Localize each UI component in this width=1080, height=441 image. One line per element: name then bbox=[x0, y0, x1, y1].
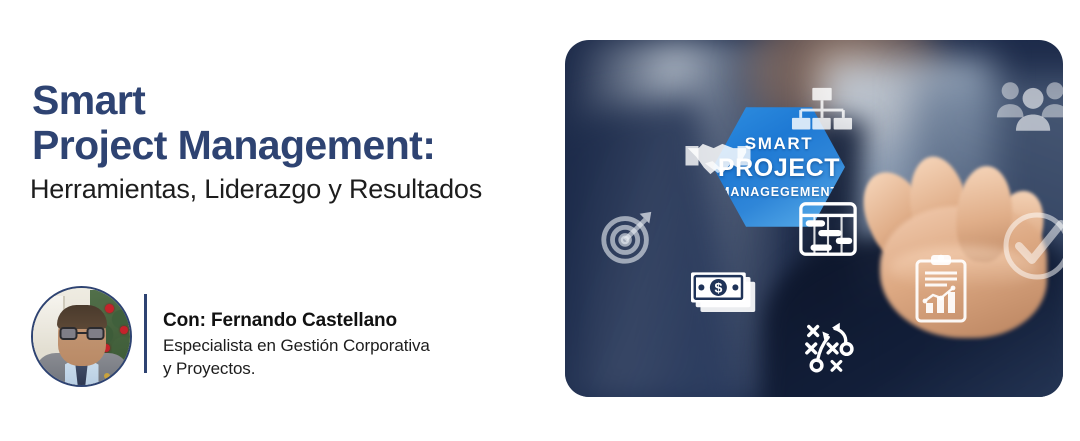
ornament-icon bbox=[105, 304, 114, 313]
lapel-pin-icon bbox=[104, 373, 110, 379]
glasses-icon bbox=[59, 327, 104, 340]
presenter-text: Con: Fernando Castellano Especialista en… bbox=[163, 286, 430, 380]
webinar-banner: Smart Project Management: Herramientas, … bbox=[0, 0, 1080, 441]
presenter-role: Especialista en Gestión Corporativa y Pr… bbox=[163, 334, 430, 380]
hero-photo: SMART PROJECT MANAGEGEMENT bbox=[565, 40, 1063, 397]
ornament-icon bbox=[120, 326, 128, 334]
avatar bbox=[31, 286, 132, 387]
presenter-divider bbox=[144, 294, 147, 373]
check-circle-icon bbox=[999, 208, 1063, 284]
presenter-name: Con: Fernando Castellano bbox=[163, 309, 430, 333]
left-text-column: Smart Project Management: Herramientas, … bbox=[0, 0, 560, 441]
money-icon: $ bbox=[691, 270, 759, 320]
presenter-block: Con: Fernando Castellano Especialista en… bbox=[31, 286, 430, 387]
org-chart-icon bbox=[791, 84, 853, 142]
avatar-hair bbox=[57, 305, 107, 329]
gantt-chart-icon bbox=[797, 198, 859, 260]
page-title: Smart Project Management: bbox=[32, 78, 552, 168]
target-icon bbox=[597, 206, 659, 268]
clipboard-report-icon bbox=[913, 254, 969, 324]
strategy-icon bbox=[803, 318, 865, 376]
team-icon bbox=[995, 76, 1063, 136]
svg-text:$: $ bbox=[714, 281, 722, 297]
handshake-icon bbox=[683, 128, 753, 190]
page-subtitle: Herramientas, Liderazgo y Resultados bbox=[30, 173, 550, 205]
